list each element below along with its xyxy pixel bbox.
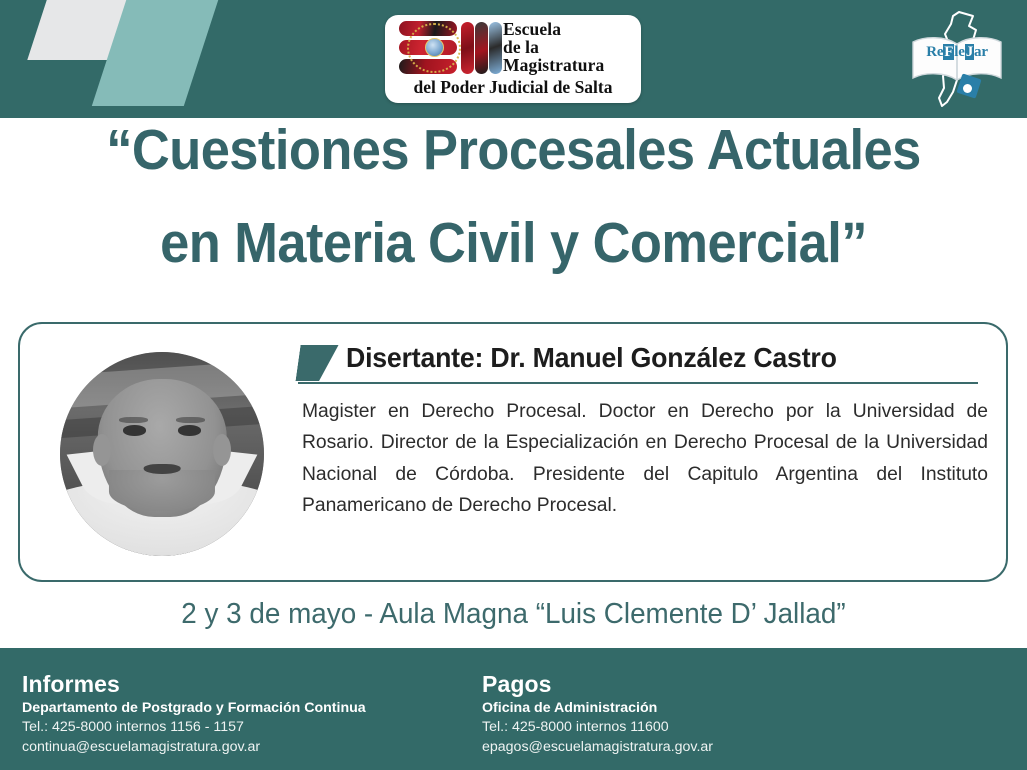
escuela-magistratura-wordmark: Escuela de la Magistratura (503, 21, 604, 75)
speaker-photo (60, 352, 264, 556)
footer-pagos-block: Pagos Oficina de Administración Tel.: 42… (482, 672, 812, 758)
brand-chevrons (20, 0, 240, 118)
event-date-venue: 2 y 3 de mayo - Aula Magna “Luis Clement… (21, 598, 1007, 631)
poster-footer: Informes Departamento de Postgrado y For… (0, 648, 1027, 770)
footer-informes-subtitle: Departamento de Postgrado y Formación Co… (22, 699, 412, 717)
logo-text-line-3: Magistratura (503, 57, 604, 75)
poster-header: Escuela de la Magistratura del Poder Jud… (0, 0, 1027, 118)
footer-pagos-subtitle: Oficina de Administración (482, 699, 812, 717)
event-poster: Escuela de la Magistratura del Poder Jud… (0, 0, 1027, 770)
logo-text-line-4: del Poder Judicial de Salta (385, 77, 641, 98)
reflejar-wordmark: ReFleJar (916, 44, 998, 61)
footer-pagos-phone: Tel.: 425-8000 internos 11600 (482, 717, 812, 737)
page-title-line-2: en Materia Civil y Comercial” (41, 215, 986, 272)
footer-informes-email[interactable]: continua@escuelamagistratura.gov.ar (22, 737, 412, 757)
speaker-name: Disertante: Dr. Manuel González Castro (346, 342, 965, 374)
escuela-magistratura-logo: Escuela de la Magistratura del Poder Jud… (385, 15, 641, 103)
speaker-bio: Magister en Derecho Procesal. Doctor en … (302, 396, 988, 521)
speaker-card: Disertante: Dr. Manuel González Castro M… (18, 322, 1008, 582)
escuela-magistratura-emblem (399, 21, 495, 75)
logo-text-line-2: de la (503, 39, 604, 57)
footer-pagos-title: Pagos (482, 672, 812, 698)
reflejar-logo: ReFleJar (905, 8, 1009, 112)
footer-informes-block: Informes Departamento de Postgrado y For… (22, 672, 412, 758)
footer-pagos-email[interactable]: epagos@escuelamagistratura.gov.ar (482, 737, 812, 757)
footer-informes-title: Informes (22, 672, 412, 698)
footer-informes-phone: Tel.: 425-8000 internos 1156 - 1157 (22, 717, 412, 737)
accent-flag-icon (295, 345, 338, 381)
page-title-line-1: “Cuestiones Procesales Actuales (41, 122, 986, 179)
page-title: “Cuestiones Procesales Actuales en Mater… (0, 122, 1027, 272)
reflejar-pin-icon (963, 84, 972, 93)
speaker-underline (298, 382, 978, 384)
speaker-heading: Disertante: Dr. Manuel González Castro (298, 342, 984, 386)
